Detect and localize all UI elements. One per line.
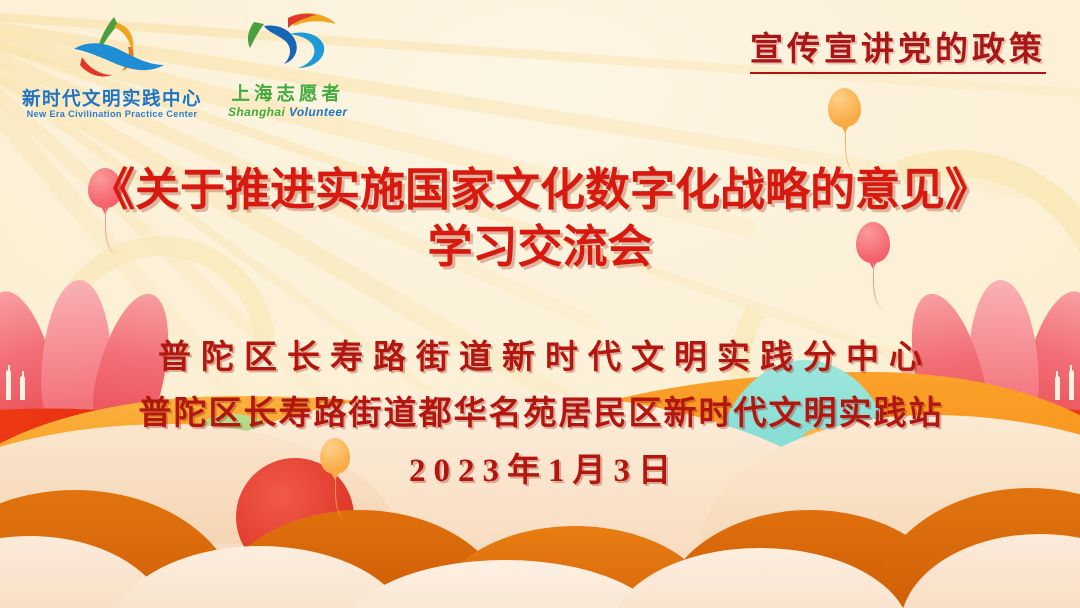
title-line-2: 学习交流会	[0, 219, 1080, 276]
logo-en-label: New Era Civilination Practice Center	[22, 109, 202, 119]
logo-cn-label: 新时代文明实践中心	[22, 89, 202, 108]
logo-en-part2: Volunteer	[289, 105, 348, 119]
logo-en-label: Shanghai Volunteer	[228, 105, 347, 119]
balloon-orange-top	[828, 88, 861, 127]
logo-shanghai-volunteer: 上海志愿者 Shanghai Volunteer	[228, 8, 347, 119]
event-banner: 新时代文明实践中心 New Era Civilination Practice …	[0, 0, 1080, 608]
logo-row: 新时代文明实践中心 New Era Civilination Practice …	[22, 8, 347, 119]
title-line-1: 《关于推进实施国家文化数字化战略的意见》	[0, 162, 1080, 219]
page-title: 《关于推进实施国家文化数字化战略的意见》 学习交流会	[0, 162, 1080, 275]
shanghai-volunteer-heart-icon	[230, 8, 346, 80]
organizer-line-2: 普陀区长寿路街道都华名苑居民区新时代文明实践站	[0, 386, 1080, 434]
new-era-swoosh-icon	[52, 13, 172, 85]
event-date: 2023年1月3日	[0, 443, 1080, 491]
balloon-body	[828, 88, 861, 127]
logo-en-part1: Shanghai	[228, 105, 285, 119]
slogan-text: 宣传宣讲党的政策	[750, 22, 1046, 74]
organizer-line-1: 普陀区长寿路街道新时代文明实践分中心	[0, 330, 1080, 378]
logo-new-era-civilization-practice-center: 新时代文明实践中心 New Era Civilination Practice …	[22, 13, 202, 119]
logo-cn-label: 上海志愿者	[228, 84, 347, 103]
